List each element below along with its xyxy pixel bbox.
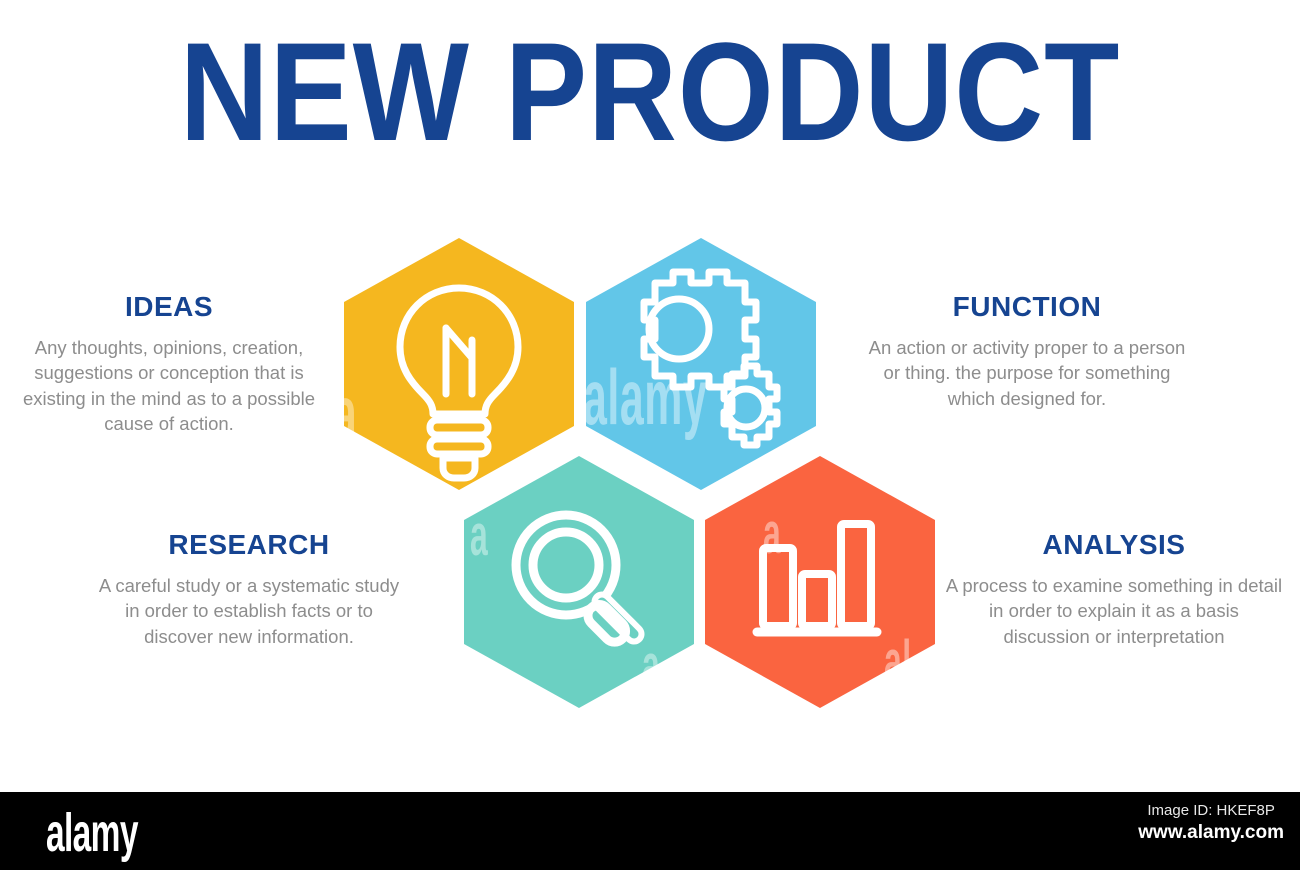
alamy-bar-right: Image ID: HKEF8P www.alamy.com <box>1138 801 1284 845</box>
block-ideas-body: Any thoughts, opinions, creation, sugges… <box>8 335 330 437</box>
hexagon-cluster <box>340 236 960 710</box>
block-analysis-body: A process to examine something in detail… <box>944 573 1284 650</box>
image-id-label: Image ID: HKEF8P <box>1138 801 1284 821</box>
infographic-canvas: NEW PRODUCT IDEAS Any thoughts, opinions… <box>0 0 1300 870</box>
alamy-logo: alamy <box>46 806 138 860</box>
block-ideas-heading: IDEAS <box>8 292 330 323</box>
block-analysis: ANALYSIS A process to examine something … <box>944 530 1284 649</box>
page-title: NEW PRODUCT <box>78 22 1222 162</box>
hexagon-research[interactable] <box>462 454 696 710</box>
block-analysis-heading: ANALYSIS <box>944 530 1284 561</box>
hexagon-shape-research <box>464 456 694 708</box>
hexagon-shape-function <box>586 238 816 490</box>
hexagon-shape-analysis <box>705 456 935 708</box>
alamy-bottom-bar: alamy Image ID: HKEF8P www.alamy.com <box>0 792 1300 870</box>
block-ideas: IDEAS Any thoughts, opinions, creation, … <box>8 292 330 437</box>
hexagon-analysis[interactable] <box>703 454 937 710</box>
alamy-url-label: www.alamy.com <box>1138 821 1284 845</box>
